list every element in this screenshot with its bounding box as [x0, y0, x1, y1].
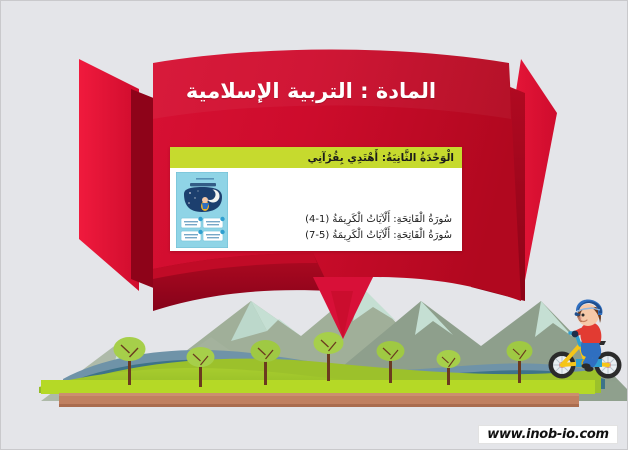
ground-strip — [59, 393, 579, 407]
watermark-url-text: www.inob-io.com — [487, 427, 609, 442]
watermark-badge: www.inob-io.com — [478, 425, 618, 444]
slide-canvas: المادة : التربية الإسلامية الْوَحْدَةُ ا… — [0, 0, 628, 450]
list-item: سُورَةُ الْفَاتِحَةِ: أَلْآيَاتُ الْكَرِ… — [232, 228, 452, 244]
lesson-card-body: سُورَةُ الْفَاتِحَةِ: أَلْآيَاتُ الْكَرِ… — [170, 168, 462, 251]
rider-head — [575, 299, 603, 326]
list-item: سُورَةُ الْفَاتِحَةِ: أَلْآيَاتُ الْكَرِ… — [232, 212, 452, 228]
unit-header-bar: الْوَحْدَةُ الثَّانِيَةُ: أَهْتَدِي بِقُ… — [170, 147, 462, 168]
lesson-list: سُورَةُ الْفَاتِحَةِ: أَلْآيَاتُ الْكَرِ… — [232, 212, 452, 243]
unit-title-label: الْوَحْدَةُ الثَّانِيَةُ: أَهْتَدِي بِقُ… — [307, 152, 454, 164]
boy-on-bicycle-illustration — [546, 297, 624, 381]
lesson-card: الْوَحْدَةُ الثَّانِيَةُ: أَهْتَدِي بِقُ… — [170, 147, 462, 251]
book-cover-thumbnail — [176, 172, 228, 248]
